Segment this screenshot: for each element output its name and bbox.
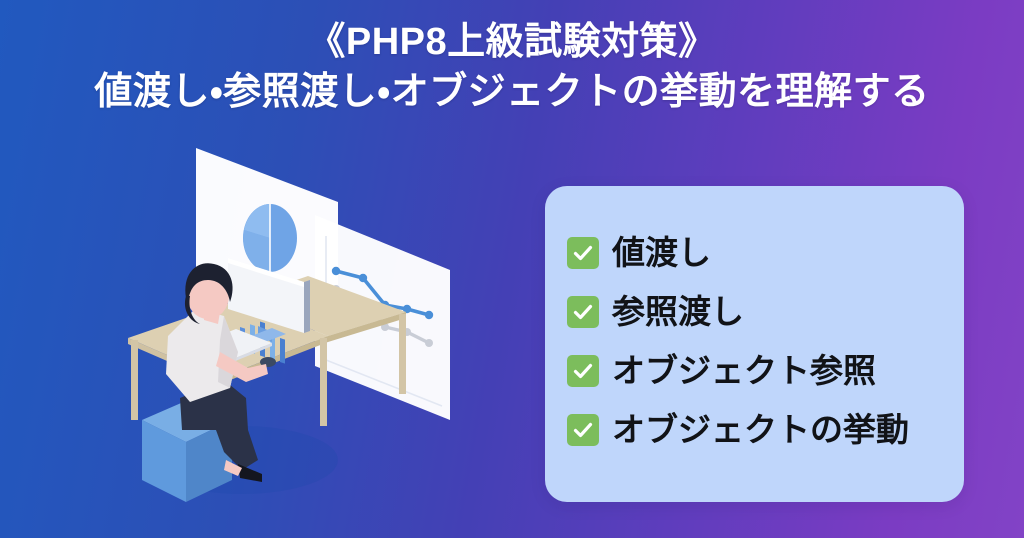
checklist-item[interactable]: オブジェクトの挙動 (567, 409, 964, 451)
pie-chart-graphic (243, 204, 297, 272)
checklist-item[interactable]: オブジェクト参照 (567, 350, 964, 392)
check-icon (567, 414, 599, 446)
checklist-item[interactable]: 参照渡し (567, 291, 964, 333)
title-sub-line: 値渡し・参照渡し・オブジェクトの挙動を理解する (0, 68, 1024, 116)
title-main-line: 《PHP8上級試験対策》 (0, 18, 1024, 66)
isometric-illustration (120, 130, 500, 520)
checklist-item-label: 値渡し (612, 235, 711, 271)
checklist-item[interactable]: 値渡し (567, 232, 964, 274)
checklist-item-label: 参照渡し (612, 294, 744, 330)
checklist-item-label: オブジェクトの挙動 (612, 412, 909, 448)
check-icon (567, 355, 599, 387)
check-icon (567, 296, 599, 328)
check-icon (567, 237, 599, 269)
checklist-card: 値渡し 参照渡し オブジェクト参照 オブ (545, 186, 964, 502)
page-title: 《PHP8上級試験対策》 値渡し・参照渡し・オブジェクトの挙動を理解する (0, 18, 1024, 116)
checklist-item-label: オブジェクト参照 (612, 353, 876, 389)
slide-canvas: 《PHP8上級試験対策》 値渡し・参照渡し・オブジェクトの挙動を理解する (0, 0, 1024, 538)
